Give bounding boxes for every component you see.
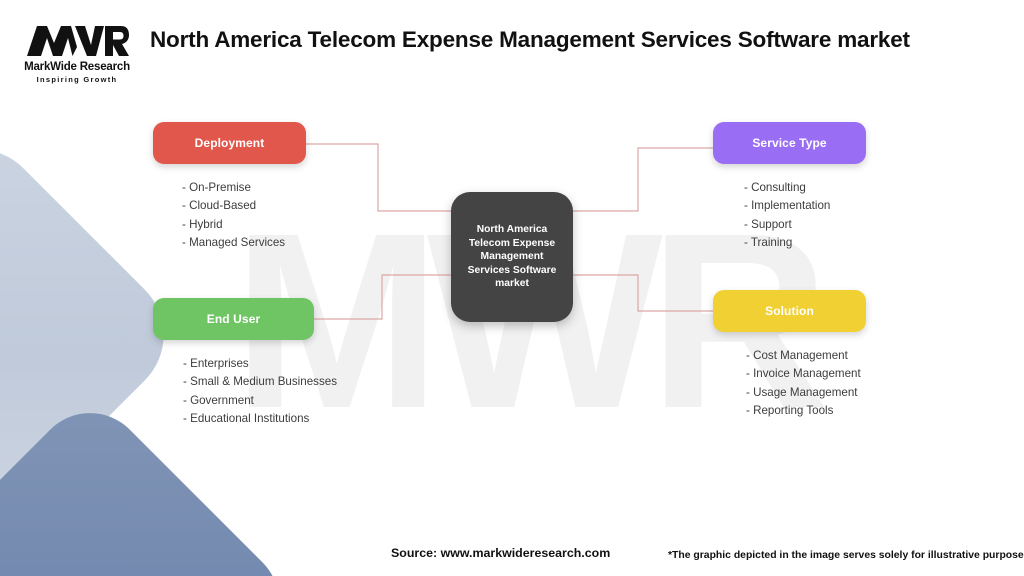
list-item: - Hybrid: [182, 216, 306, 234]
infographic-canvas: MWR MarkWide Research Inspiring Growth N…: [0, 0, 1024, 576]
connector-deployment: [306, 144, 451, 211]
list-item: - Managed Services: [182, 234, 306, 252]
list-item: - Invoice Management: [746, 365, 866, 383]
list-item: - Consulting: [744, 179, 866, 197]
list-item: - Reporting Tools: [746, 402, 866, 420]
branch-header-deployment[interactable]: Deployment: [153, 122, 306, 164]
branch-solution: Solution - Cost Management - Invoice Man…: [713, 290, 866, 420]
branch-header-service-type[interactable]: Service Type: [713, 122, 866, 164]
list-item: - Usage Management: [746, 384, 866, 402]
disclaimer-note: *The graphic depicted in the image serve…: [668, 550, 1024, 561]
list-item: - Support: [744, 216, 866, 234]
connector-solution: [573, 275, 713, 311]
branch-items-end-user: - Enterprises - Small & Medium Businesse…: [153, 355, 314, 428]
brand-tagline: Inspiring Growth: [16, 75, 138, 84]
page-title: North America Telecom Expense Management…: [150, 27, 910, 53]
branch-deployment: Deployment - On-Premise - Cloud-Based - …: [153, 122, 306, 252]
branch-header-solution[interactable]: Solution: [713, 290, 866, 332]
list-item: - Implementation: [744, 197, 866, 215]
list-item: - On-Premise: [182, 179, 306, 197]
list-item: - Enterprises: [183, 355, 314, 373]
source-note[interactable]: Source: www.markwideresearch.com: [391, 546, 610, 560]
branch-header-end-user[interactable]: End User: [153, 298, 314, 340]
branch-service-type: Service Type - Consulting - Implementati…: [713, 122, 866, 252]
list-item: - Cloud-Based: [182, 197, 306, 215]
list-item: - Small & Medium Businesses: [183, 373, 314, 391]
list-item: - Cost Management: [746, 347, 866, 365]
list-item: - Training: [744, 234, 866, 252]
center-node: North AmericaTelecom ExpenseManagementSe…: [451, 192, 573, 322]
list-item: - Educational Institutions: [183, 410, 314, 428]
brand-name: MarkWide Research: [16, 61, 138, 73]
branch-end-user: End User - Enterprises - Small & Medium …: [153, 298, 314, 428]
connector-service-type: [573, 148, 713, 211]
branch-items-solution: - Cost Management - Invoice Management -…: [713, 347, 866, 420]
branch-items-service-type: - Consulting - Implementation - Support …: [713, 179, 866, 252]
brand-logo: MarkWide Research Inspiring Growth: [16, 22, 138, 88]
branch-items-deployment: - On-Premise - Cloud-Based - Hybrid - Ma…: [153, 179, 306, 252]
list-item: - Government: [183, 392, 314, 410]
connector-end-user: [314, 275, 451, 319]
mwr-monogram-icon: [25, 22, 129, 60]
center-node-label: North AmericaTelecom ExpenseManagementSe…: [461, 223, 564, 291]
